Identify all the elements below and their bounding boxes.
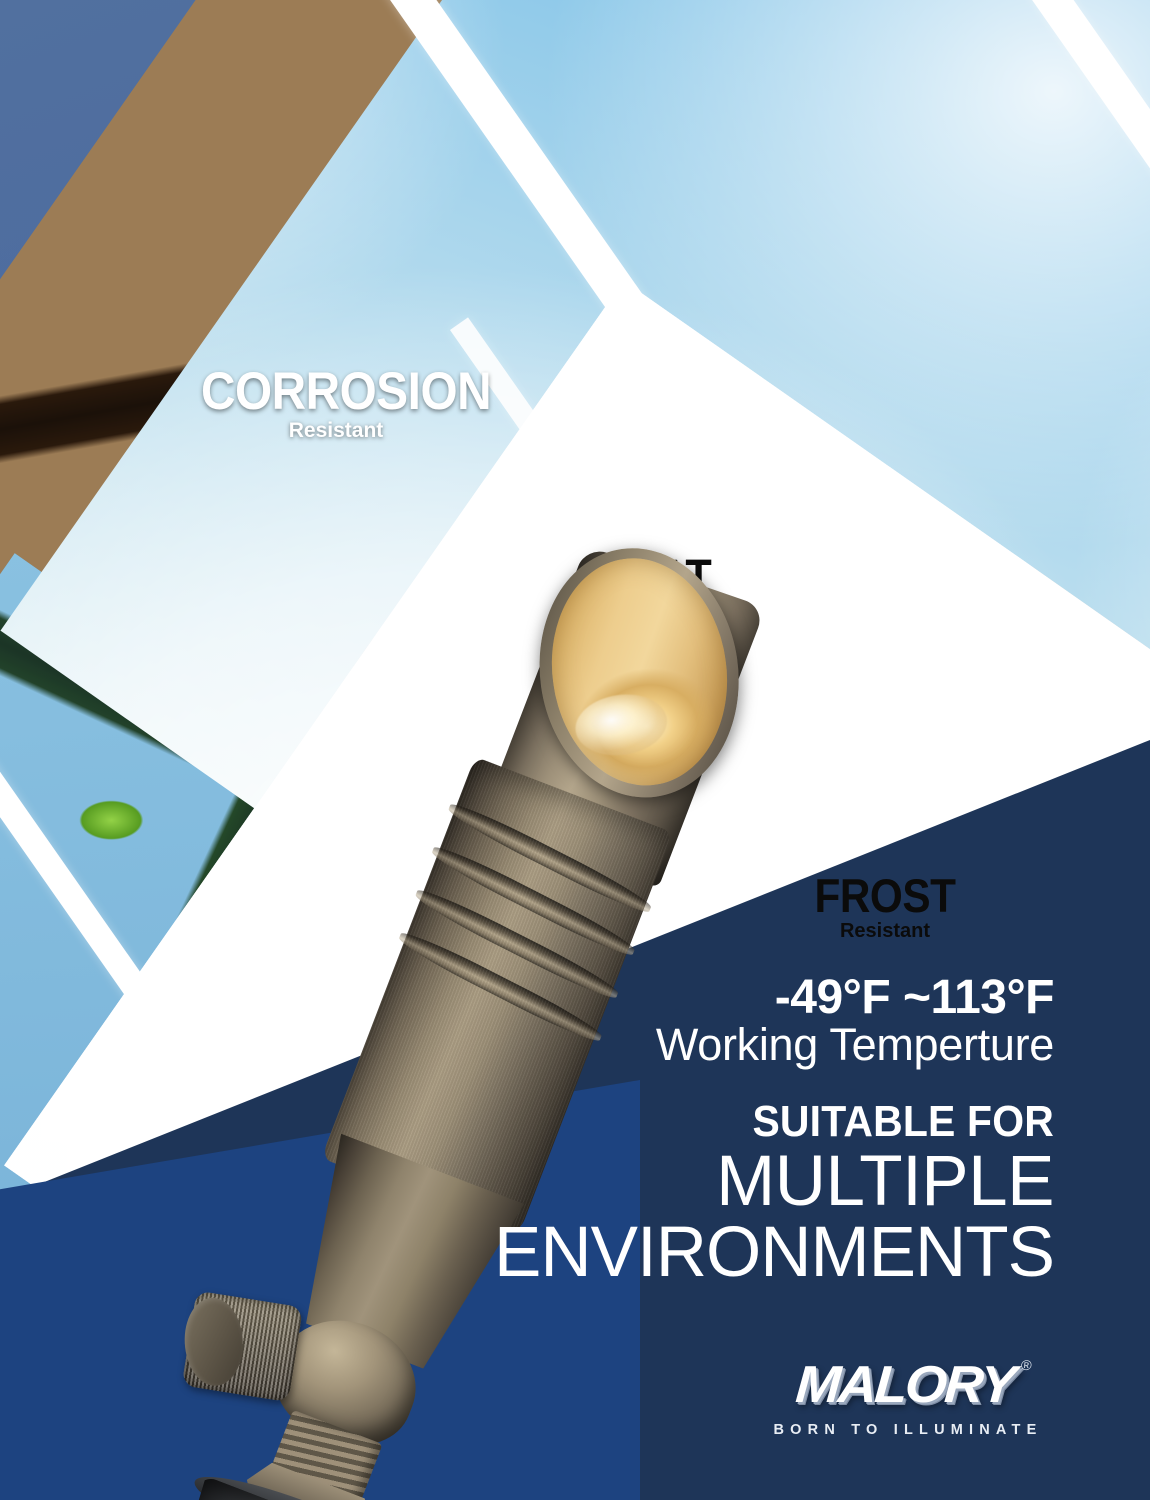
headline-suitable: SUITABLE FOR [533, 1099, 1054, 1145]
brand-name: MALORY ® [794, 1355, 1016, 1415]
callout-corrosion: CORROSION Resistant [186, 365, 486, 441]
brand-tagline: BORN TO ILLUMINATE [760, 1422, 1050, 1438]
temperature-label: Working Temperture [494, 1021, 1054, 1070]
knob-face [182, 1296, 245, 1387]
brand-logo: MALORY ® BORN TO ILLUMINATE [760, 1355, 1050, 1438]
temperature-range: -49°F ~113°F [494, 974, 1054, 1023]
decorative-ring-1 [446, 798, 654, 919]
product-feature-poster: CORROSION Resistant HEAT Resistant FROST… [0, 0, 1150, 1500]
callout-corrosion-title: CORROSION [201, 365, 471, 418]
knurled-adjustment-knob [182, 1291, 304, 1403]
callout-corrosion-subtitle: Resistant [186, 420, 486, 441]
brand-name-text: MALORY [794, 1356, 1016, 1414]
headline-multiple: MULTIPLE [494, 1147, 1054, 1217]
headline-block: -49°F ~113°F Working Temperture SUITABLE… [494, 974, 1054, 1288]
registered-trademark-icon: ® [1021, 1357, 1033, 1373]
headline-environments: ENVIRONMENTS [494, 1218, 1054, 1288]
decorative-ring-2 [429, 841, 637, 962]
